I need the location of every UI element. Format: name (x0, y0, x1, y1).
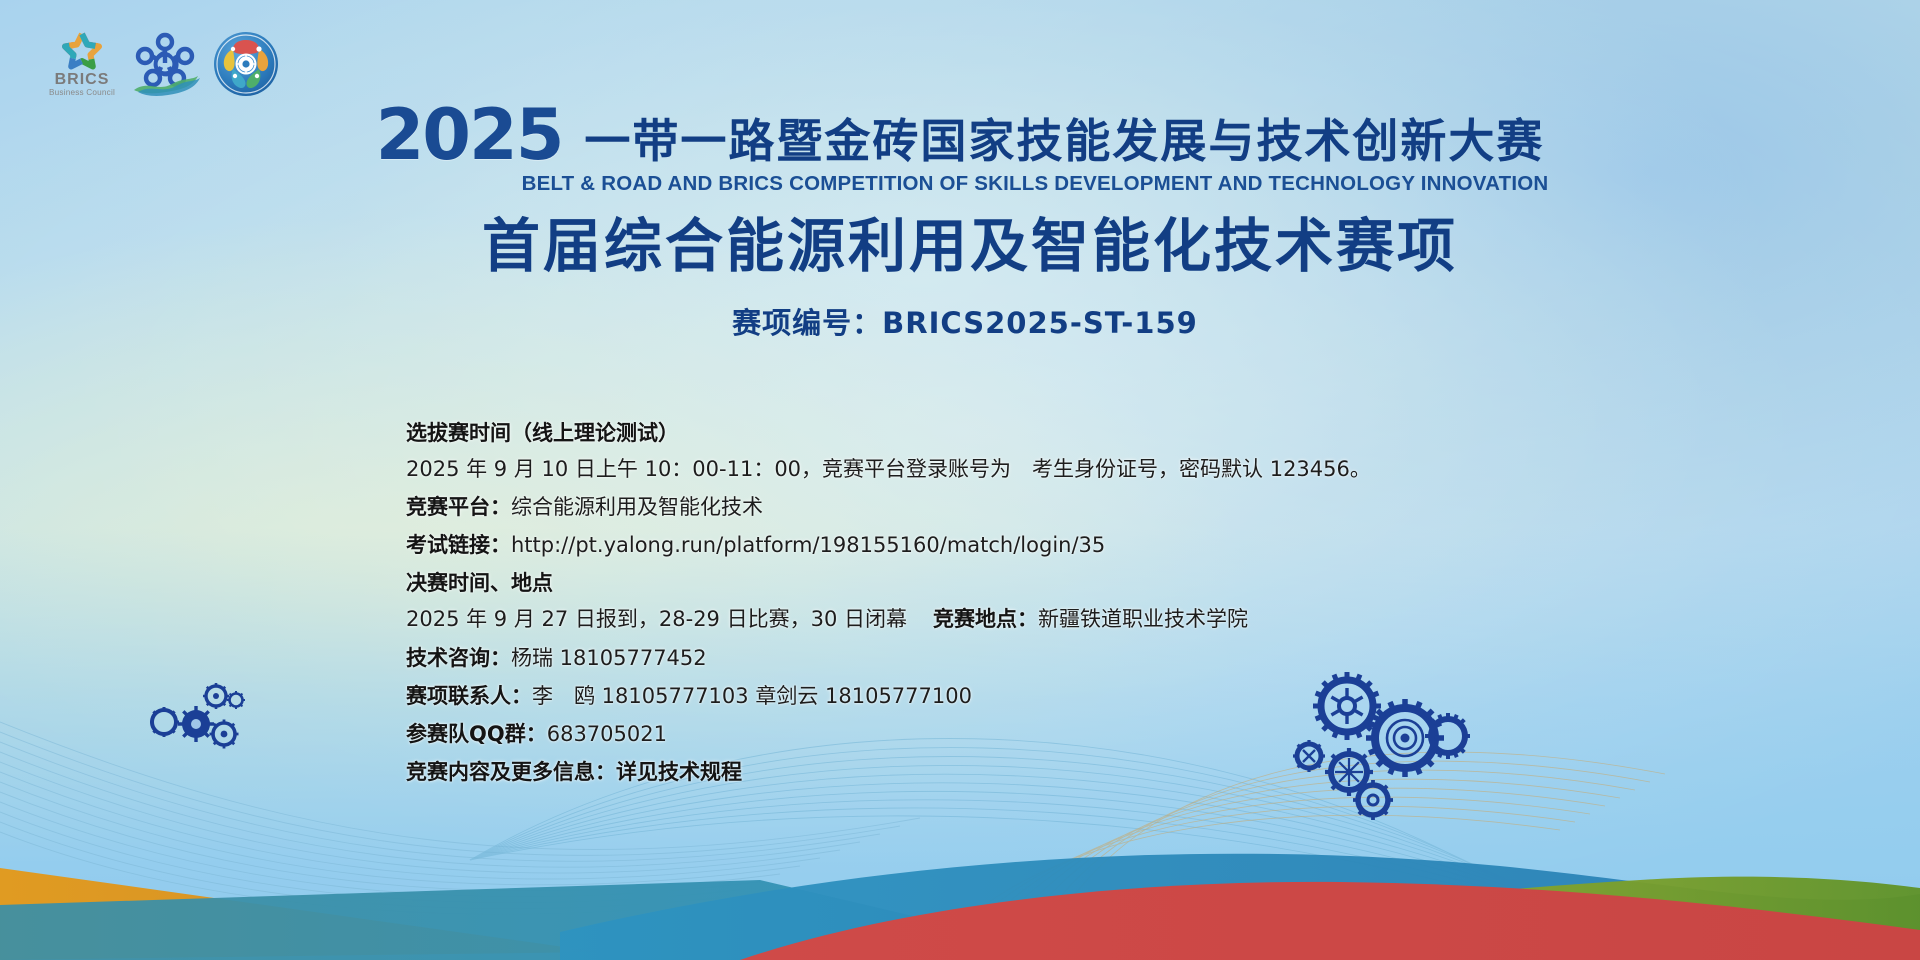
venue-label: 竞赛地点： (933, 607, 1038, 631)
venue-value: 新疆铁道职业技术学院 (1038, 607, 1248, 631)
selection-detail-text: 2025 年 9 月 10 日上午 10：00-11：00，竞赛平台登录账号为 … (406, 457, 1371, 481)
exam-link-label: 考试链接： (406, 533, 511, 557)
final-heading-text: 决赛时间、地点 (406, 571, 553, 595)
platform-value: 综合能源利用及智能化技术 (511, 495, 763, 519)
exam-link-line[interactable]: 考试链接：http://pt.yalong.run/platform/19815… (406, 534, 1606, 557)
competition-emblem-logo (212, 30, 280, 103)
more-info-value: 详见技术规程 (616, 760, 742, 784)
competition-title-cn: 一带一路暨金砖国家技能发展与技术创新大赛 (584, 118, 1544, 164)
competition-poster: BRICS Business Council (0, 0, 1920, 960)
competition-code: 赛项编号：BRICS2025-ST-159 (0, 300, 1920, 342)
competition-subtitle-cn: 首届综合能源利用及智能化技术赛项 (0, 212, 1920, 280)
gears-icon-right (1285, 660, 1470, 840)
more-info-label: 竞赛内容及更多信息： (406, 760, 616, 784)
gears-icon-left (150, 676, 260, 771)
contacts-label: 赛项联系人： (406, 684, 532, 708)
final-detail-text: 2025 年 9 月 27 日报到，28-29 日比赛，30 日闭幕 (406, 607, 907, 631)
competition-code-label: 赛项编号： (732, 306, 882, 340)
tech-support-label: 技术咨询： (406, 646, 511, 670)
competition-title-en: BELT & ROAD AND BRICS COMPETITION OF SKI… (0, 172, 1920, 196)
selection-heading: 选拔赛时间（线上理论测试） (406, 422, 1606, 445)
platform-line: 竞赛平台：综合能源利用及智能化技术 (406, 496, 1606, 519)
platform-label: 竞赛平台： (406, 495, 511, 519)
brics-logo-wordmark: BRICS (55, 71, 110, 88)
final-detail-line: 2025 年 9 月 27 日报到，28-29 日比赛，30 日闭幕竞赛地点：新… (406, 608, 1606, 631)
poster-headline: 2025 一带一路暨金砖国家技能发展与技术创新大赛 BELT & ROAD AN… (0, 96, 1920, 342)
contacts-value: 李 鸥 18105777103 章剑云 18105777100 (532, 684, 972, 708)
final-heading: 决赛时间、地点 (406, 572, 1606, 595)
title-line-primary: 2025 一带一路暨金砖国家技能发展与技术创新大赛 (0, 96, 1920, 166)
exam-link-url[interactable]: http://pt.yalong.run/platform/198155160/… (511, 533, 1105, 557)
selection-heading-text: 选拔赛时间（线上理论测试） (406, 421, 679, 445)
tech-support-value: 杨瑞 18105777452 (511, 646, 707, 670)
qq-group-label: 参赛队QQ群： (406, 722, 547, 746)
competition-code-value: BRICS2025-ST-159 (882, 306, 1198, 340)
selection-detail: 2025 年 9 月 10 日上午 10：00-11：00，竞赛平台登录账号为 … (406, 458, 1606, 481)
logo-row: BRICS Business Council (46, 30, 280, 103)
year-label: 2025 (376, 100, 563, 170)
brics-business-council-logo: BRICS Business Council (46, 30, 118, 103)
qq-group-value: 683705021 (547, 722, 667, 746)
brics-skills-competition-logo (128, 30, 202, 103)
